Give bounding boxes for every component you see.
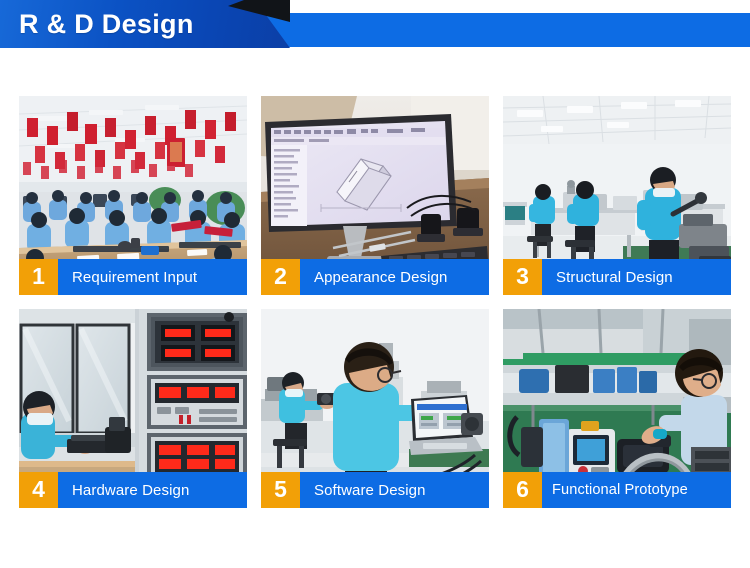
card-number-badge: 5 xyxy=(261,472,300,508)
card-label-bar: 3 Structural Design xyxy=(503,259,731,295)
card-label: Hardware Design xyxy=(58,472,247,508)
card-number-badge: 3 xyxy=(503,259,542,295)
process-card-6[interactable]: 6 Functional Prototype xyxy=(503,309,731,508)
card-label: Requirement Input xyxy=(58,259,247,295)
card-number-badge: 2 xyxy=(261,259,300,295)
card-label-bar: 1 Requirement Input xyxy=(19,259,247,295)
card-label: Functional Prototype xyxy=(542,472,731,508)
process-card-3[interactable]: 3 Structural Design xyxy=(503,96,731,295)
rd-design-page: R & D Design xyxy=(0,0,750,568)
process-card-4[interactable]: 4 Hardware Design xyxy=(19,309,247,508)
card-number-badge: 6 xyxy=(503,472,542,508)
card-label: Software Design xyxy=(300,472,489,508)
card-label-bar: 5 Software Design xyxy=(261,472,489,508)
process-card-5[interactable]: 5 Software Design xyxy=(261,309,489,508)
process-card-2[interactable]: 2 Appearance Design xyxy=(261,96,489,295)
card-label: Structural Design xyxy=(542,259,731,295)
card-number-badge: 1 xyxy=(19,259,58,295)
card-label-bar: 2 Appearance Design xyxy=(261,259,489,295)
page-title: R & D Design xyxy=(19,6,194,42)
card-label-bar: 4 Hardware Design xyxy=(19,472,247,508)
card-label-bar: 6 Functional Prototype xyxy=(503,472,731,508)
process-card-grid: 1 Requirement Input xyxy=(19,96,731,508)
card-number-badge: 4 xyxy=(19,472,58,508)
page-banner: R & D Design xyxy=(0,0,750,58)
card-label: Appearance Design xyxy=(300,259,489,295)
process-card-1[interactable]: 1 Requirement Input xyxy=(19,96,247,295)
